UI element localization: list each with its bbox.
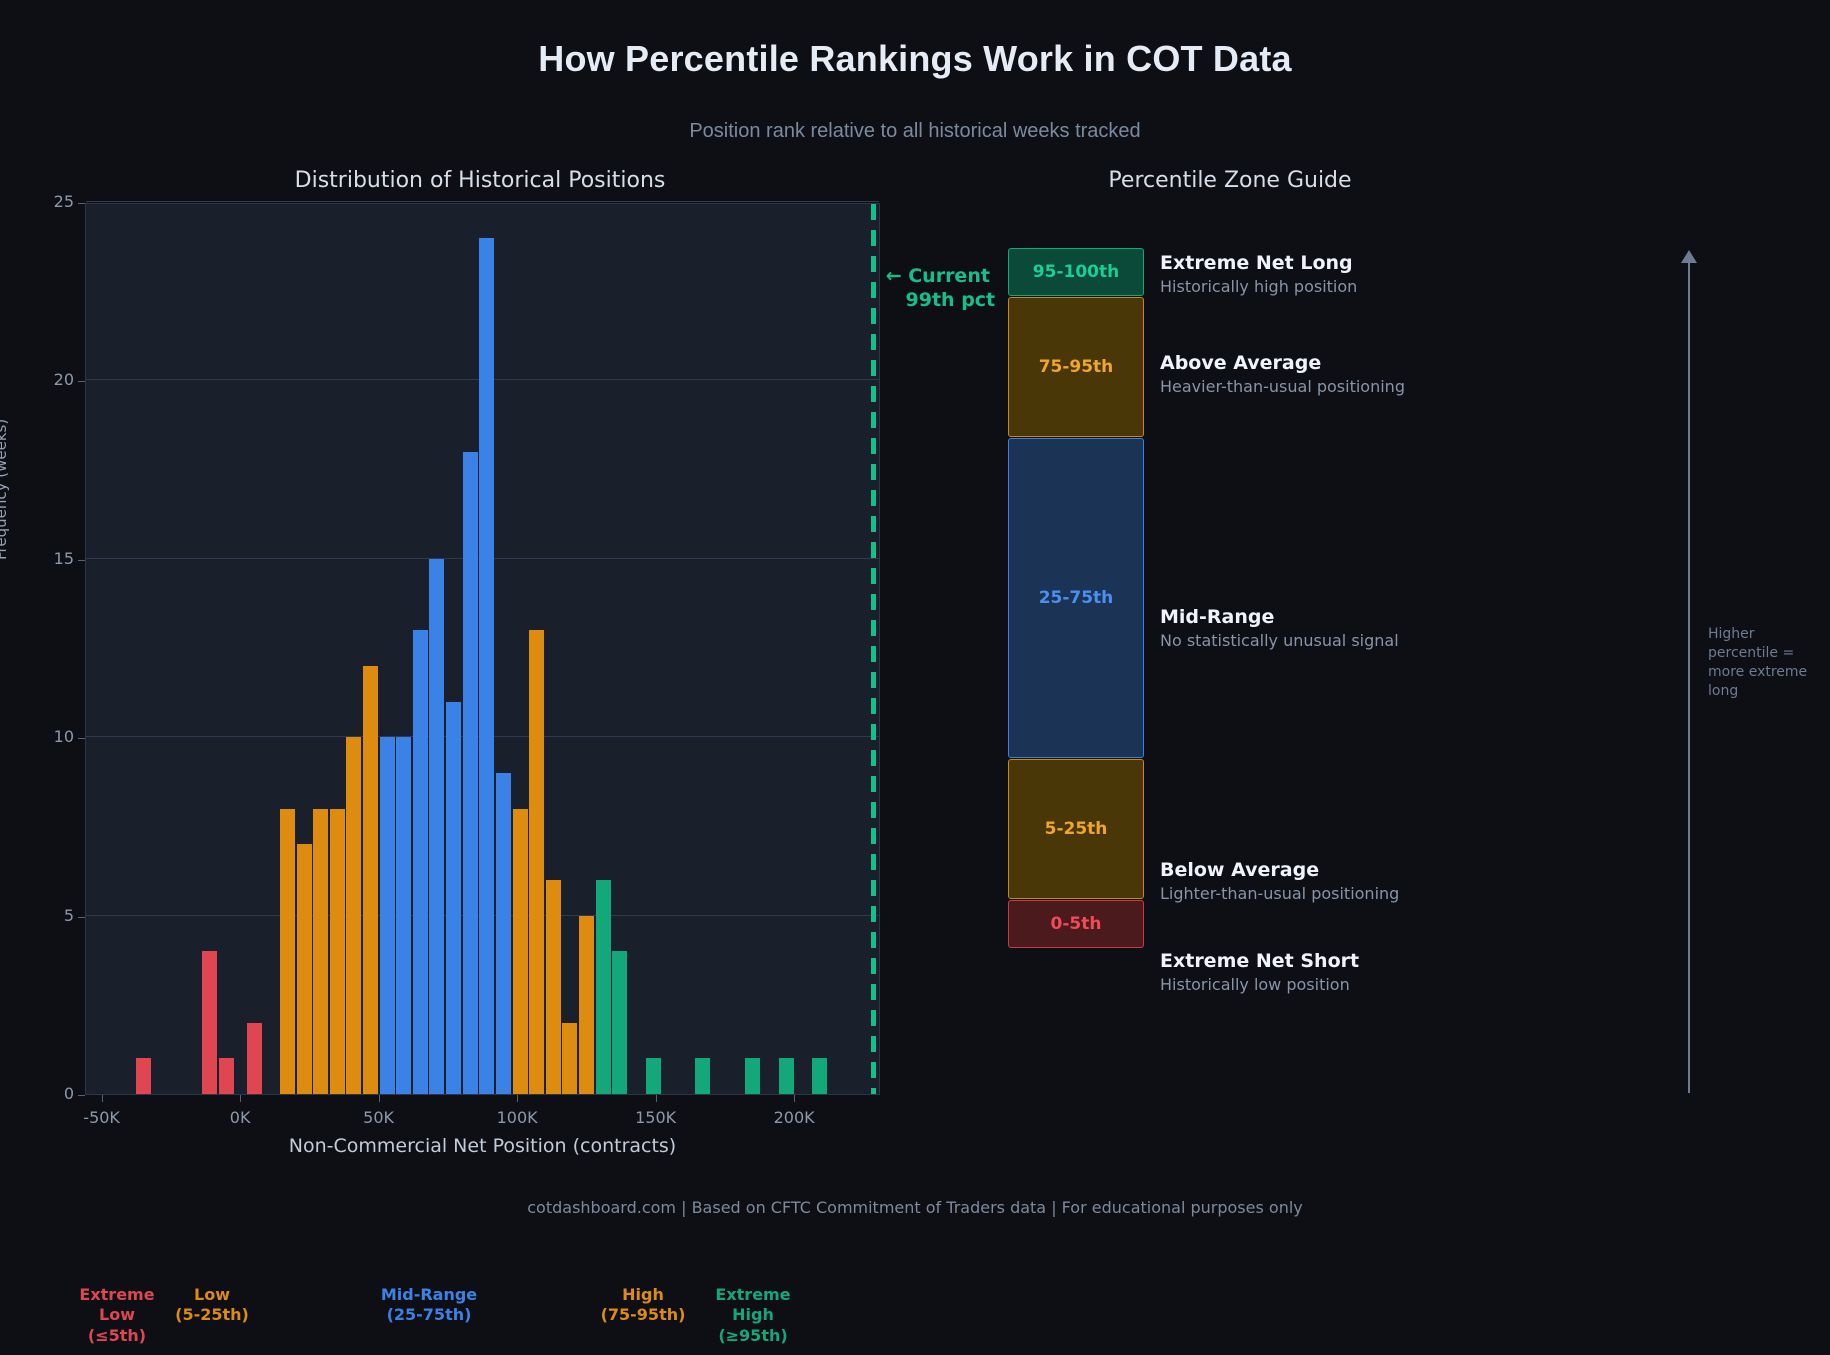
arrow-shaft [1688, 258, 1690, 1093]
y-axis-tick-label: 5 [28, 906, 74, 925]
histogram-bar[interactable] [136, 1058, 151, 1094]
legend-item-line: (5-25th) [137, 1305, 287, 1325]
zone-description: Historically high position [1160, 277, 1357, 296]
histogram-bar[interactable] [612, 951, 627, 1094]
histogram-bar[interactable] [280, 809, 295, 1094]
legend-item: ExtremeHigh(≥95th) [678, 1285, 828, 1346]
x-axis-tick-label: -50K [62, 1108, 142, 1127]
x-axis-tick-label: 150K [616, 1108, 696, 1127]
legend-item: Low(5-25th) [137, 1285, 287, 1326]
zone-band[interactable]: 0-5th [1008, 900, 1144, 948]
zone-description: No statistically unusual signal [1160, 631, 1399, 650]
zone-band[interactable]: 95-100th [1008, 248, 1144, 296]
zone-title: Above Average [1160, 352, 1321, 374]
y-axis-tick-mark [78, 1095, 85, 1096]
x-axis-tick-label: 100K [477, 1108, 557, 1127]
legend-item-line: (≤5th) [42, 1326, 192, 1346]
histogram-bar[interactable] [646, 1058, 661, 1094]
histogram-bar[interactable] [219, 1058, 234, 1094]
footer-text: cotdashboard.com | Based on CFTC Commitm… [527, 1198, 1303, 1217]
legend-item-line: Low [137, 1285, 287, 1305]
legend-item-line: (≥95th) [678, 1326, 828, 1346]
zone-band[interactable]: 25-75th [1008, 438, 1144, 758]
x-axis-tick-mark [794, 1095, 795, 1102]
histogram-bar[interactable] [596, 880, 611, 1094]
histogram-bar[interactable] [479, 238, 494, 1094]
zone-description: Historically low position [1160, 975, 1350, 994]
x-axis-tick-label: 0K [200, 1108, 280, 1127]
histogram-plot-area [85, 203, 880, 1095]
histogram-bar[interactable] [562, 1023, 577, 1094]
y-axis-tick-label: 15 [28, 549, 74, 568]
zone-description: Lighter-than-usual positioning [1160, 884, 1399, 903]
legend-item-line: High [678, 1305, 828, 1325]
zone-title: Below Average [1160, 859, 1319, 881]
histogram-bar[interactable] [313, 809, 328, 1094]
chart-page: How Percentile Rankings Work in COT Data… [0, 0, 1830, 1355]
histogram-bar[interactable] [463, 452, 478, 1094]
x-axis-label: Non-Commercial Net Position (contracts) [85, 1135, 880, 1157]
histogram-bar[interactable] [446, 702, 461, 1094]
histogram-bar[interactable] [363, 666, 378, 1094]
current-percentile-line [871, 204, 876, 1094]
y-axis-tick-mark [78, 560, 85, 561]
histogram-bar[interactable] [247, 1023, 262, 1094]
histogram-panel-title: Distribution of Historical Positions [85, 168, 875, 193]
histogram-bar[interactable] [297, 844, 312, 1094]
legend-item-line: Extreme [678, 1285, 828, 1305]
y-axis-tick-label: 20 [28, 370, 74, 389]
histogram-bar[interactable] [496, 773, 511, 1094]
legend-item-line: (25-75th) [354, 1305, 504, 1325]
page-title: How Percentile Rankings Work in COT Data [0, 38, 1830, 80]
histogram-bar[interactable] [745, 1058, 760, 1094]
zone-band[interactable]: 75-95th [1008, 297, 1144, 437]
y-axis-tick-mark [78, 203, 85, 204]
histogram-bar[interactable] [396, 737, 411, 1094]
zone-title: Extreme Net Short [1160, 950, 1359, 972]
x-axis-tick-label: 50K [339, 1108, 419, 1127]
y-axis-tick-mark [78, 917, 85, 918]
zone-guide-panel-title: Percentile Zone Guide [1000, 168, 1460, 193]
histogram-bar[interactable] [779, 1058, 794, 1094]
current-percentile-annotation: ← Current 99th pct [886, 265, 995, 313]
x-axis-tick-label: 200K [754, 1108, 834, 1127]
arrow-caption: Higher percentile = more extreme long [1708, 625, 1808, 701]
histogram-bar[interactable] [330, 809, 345, 1094]
y-axis-label: Frequency (weeks) [0, 419, 10, 560]
zone-title: Mid-Range [1160, 606, 1274, 628]
histogram-bar[interactable] [546, 880, 561, 1094]
histogram-bar[interactable] [413, 630, 428, 1094]
histogram-bar[interactable] [579, 916, 594, 1094]
x-axis-tick-mark [102, 1095, 103, 1102]
legend-item-line: Mid-Range [354, 1285, 504, 1305]
y-axis-tick-label: 10 [28, 727, 74, 746]
zone-title: Extreme Net Long [1160, 252, 1353, 274]
histogram-bar[interactable] [429, 559, 444, 1094]
zone-band[interactable]: 5-25th [1008, 759, 1144, 899]
histogram-bar[interactable] [513, 809, 528, 1094]
x-axis-tick-mark [517, 1095, 518, 1102]
legend-item: Mid-Range(25-75th) [354, 1285, 504, 1326]
grid-line [86, 201, 879, 202]
histogram-bar[interactable] [346, 737, 361, 1094]
x-axis-tick-mark [656, 1095, 657, 1102]
x-axis-tick-mark [240, 1095, 241, 1102]
histogram-bar[interactable] [529, 630, 544, 1094]
y-axis-tick-label: 25 [28, 192, 74, 211]
x-axis-tick-mark [379, 1095, 380, 1102]
zone-description: Heavier-than-usual positioning [1160, 377, 1405, 396]
histogram-bar[interactable] [812, 1058, 827, 1094]
histogram-bar[interactable] [380, 737, 395, 1094]
y-axis-tick-mark [78, 738, 85, 739]
histogram-bar[interactable] [695, 1058, 710, 1094]
y-axis-tick-mark [78, 381, 85, 382]
footer-note: cotdashboard.com | Based on CFTC Commitm… [0, 1198, 1830, 1217]
page-subtitle: Position rank relative to all historical… [0, 120, 1830, 143]
histogram-bar[interactable] [202, 951, 217, 1094]
y-axis-tick-label: 0 [28, 1084, 74, 1103]
